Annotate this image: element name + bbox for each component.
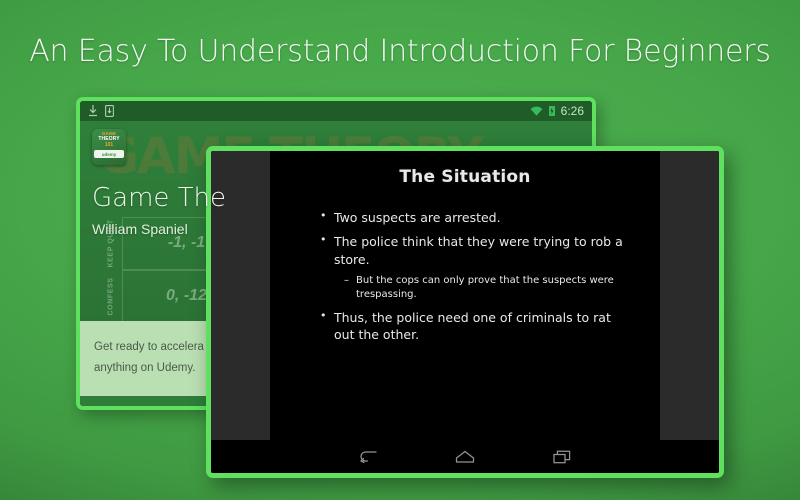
page-headline: An Easy To Understand Introduction For B… [0,34,800,69]
download-icon [88,105,98,117]
app-icon-line-3: 101 [105,142,113,148]
slide-stage[interactable]: The Situation Two suspects are arrested.… [211,151,719,440]
course-title: Game The [92,183,226,213]
status-bar-right-icons: 6:26 [530,104,584,118]
presentation-slide: The Situation Two suspects are arrested.… [270,151,660,440]
recent-apps-icon[interactable] [553,450,571,464]
udemy-badge: udemy [94,150,124,158]
android-status-bar: 6:26 [80,101,592,121]
download-to-device-icon [105,105,114,117]
slide-bullet: The police think that they were trying t… [320,233,634,269]
course-author: William Spaniel [92,221,188,237]
battery-charging-icon [548,105,556,117]
back-icon[interactable] [359,450,377,464]
status-bar-clock: 6:26 [561,104,584,118]
foreground-tablet-device: The Situation Two suspects are arrested.… [206,146,724,478]
matrix-row-label: CONFESS [100,270,122,322]
foreground-tablet-bezel: The Situation Two suspects are arrested.… [206,146,724,478]
course-app-icon[interactable]: GAME THEORY 101 udemy [92,129,126,165]
wifi-icon [530,106,543,117]
home-icon[interactable] [455,450,475,464]
slide-bullet: Thus, the police need one of criminals t… [320,309,634,345]
slide-bullet: Two suspects are arrested. [320,209,634,227]
status-bar-left-icons [88,105,114,117]
letterbox-right [660,151,719,440]
android-navigation-bar [211,440,719,473]
slide-bullet-list: Two suspects are arrested. The police th… [296,209,634,344]
slide-sub-bullet: But the cops can only prove that the sus… [344,274,634,302]
slide-title: The Situation [296,167,634,187]
